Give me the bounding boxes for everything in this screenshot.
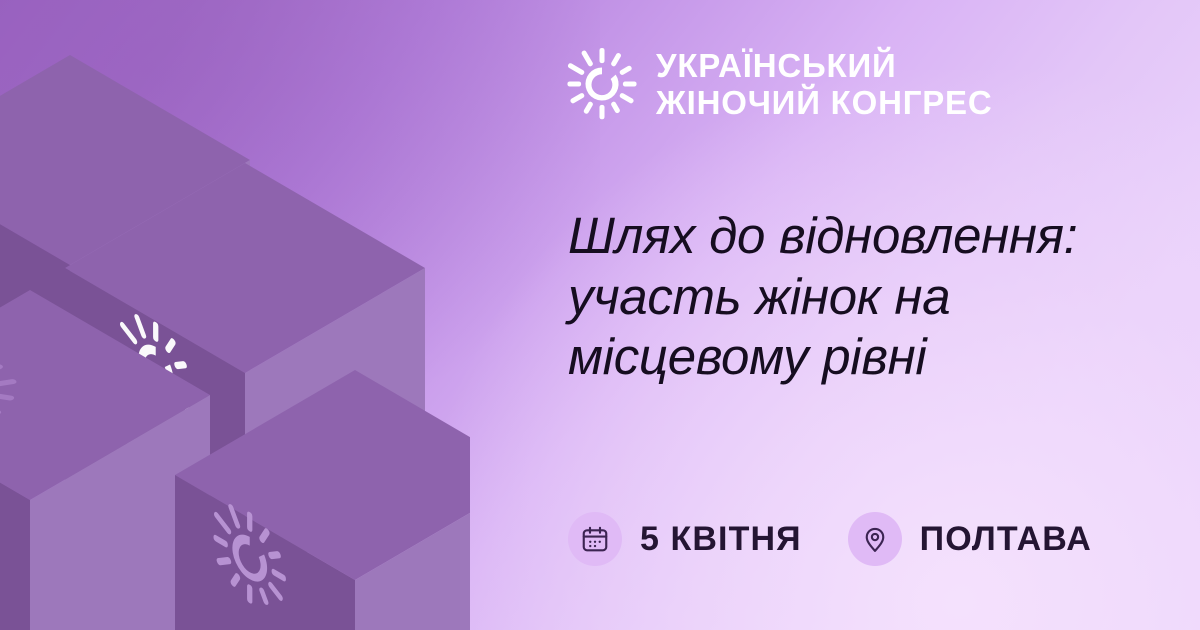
brand-wordmark: УКРАЇНСЬКИЙ ЖІНОЧИЙ КОНГРЕС [656,48,993,120]
calendar-icon [568,512,622,566]
page-title: Шлях до відновлення: участь жінок на міс… [568,206,1188,388]
event-date: 5 КВІТНЯ [568,512,802,566]
isometric-cubes-illustration [0,0,470,630]
sunburst-logo-icon [566,48,638,120]
content-column: УКРАЇНСЬКИЙ ЖІНОЧИЙ КОНГРЕС Шлях до відн… [566,0,1200,630]
event-date-label: 5 КВІТНЯ [640,520,802,559]
map-pin-icon [848,512,902,566]
headline-line-2: участь жінок на [568,267,1188,328]
headline-line-1: Шлях до відновлення: [568,206,1188,267]
brand-logo-lockup: УКРАЇНСЬКИЙ ЖІНОЧИЙ КОНГРЕС [566,48,993,120]
event-banner: УКРАЇНСЬКИЙ ЖІНОЧИЙ КОНГРЕС Шлях до відн… [0,0,1200,630]
headline-line-3: місцевому рівні [568,327,1188,388]
event-location: ПОЛТАВА [848,512,1092,566]
background-glow-top [0,0,600,440]
brand-name-line-1: УКРАЇНСЬКИЙ [656,48,993,84]
event-meta-row: 5 КВІТНЯ ПОЛТАВА [568,512,1092,566]
brand-name-line-2: ЖІНОЧИЙ КОНГРЕС [656,85,993,121]
event-location-label: ПОЛТАВА [920,520,1092,559]
